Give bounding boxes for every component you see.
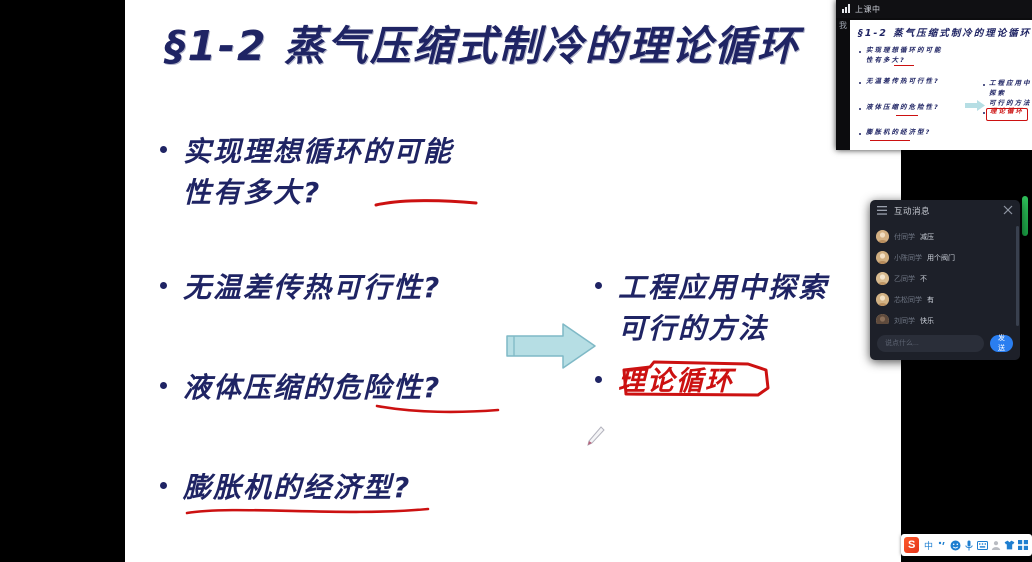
- chat-message-name: 付同学: [894, 232, 915, 242]
- chat-message-name: 芯松同学: [894, 295, 922, 305]
- self-video-label: 我: [836, 20, 850, 32]
- chinese-mode-icon[interactable]: 中: [922, 537, 934, 553]
- punctuation-icon[interactable]: [936, 537, 948, 553]
- chat-panel-title: 互动消息: [894, 205, 996, 217]
- class-status-label: 上课中: [855, 4, 881, 15]
- chat-message-item: 乙同学 不: [876, 268, 1014, 289]
- preview-bullet-3: 液体压缩的危险性?: [866, 103, 976, 113]
- chat-message-text: 有: [927, 295, 934, 305]
- preview-underline-3: [896, 115, 918, 116]
- bullet-dot-icon: [160, 382, 167, 389]
- bullet-dot-icon: [983, 112, 985, 114]
- presentation-slide: §1-2 蒸气压缩式制冷的理论循环 实现理想循环的可能 性有多大? 无温差传热可…: [125, 0, 901, 562]
- red-box-annotation: [620, 358, 775, 398]
- bullet-item-1: 实现理想循环的可能 性有多大?: [160, 132, 560, 213]
- chat-message-text: 减压: [920, 232, 934, 242]
- chat-message-text: 用个阀门: [927, 253, 955, 263]
- preview-bullet-right-1: 工程应用中探索 可行的方法: [989, 79, 1032, 108]
- page-title: §1-2 蒸气压缩式制冷的理论循环: [165, 12, 800, 72]
- chat-message-text: 快乐: [920, 316, 934, 325]
- microphone-icon[interactable]: [963, 537, 975, 553]
- chat-panel-header: 互动消息: [870, 200, 1020, 222]
- bullet-dot-icon: [859, 82, 861, 84]
- ime-toolbar[interactable]: S 中: [901, 534, 1032, 556]
- signal-bars-icon: [842, 0, 851, 18]
- bullet-text-4: 膨胀机的经济型?: [183, 468, 411, 509]
- keyboard-icon[interactable]: [976, 537, 988, 553]
- skin-icon[interactable]: [1003, 537, 1015, 553]
- toolbox-icon[interactable]: [1017, 537, 1029, 553]
- chat-message-item: 刘同学 快乐: [876, 310, 1014, 324]
- user-icon[interactable]: [990, 537, 1002, 553]
- red-underline-annotation-4: [185, 504, 430, 518]
- sogou-logo-icon[interactable]: S: [904, 537, 919, 553]
- bullet-item-3: 液体压缩的危险性?: [160, 368, 560, 409]
- chat-message-name: 乙同学: [894, 274, 915, 284]
- close-icon[interactable]: [1003, 202, 1013, 220]
- bullet-item-4: 膨胀机的经济型?: [160, 468, 560, 509]
- bullet-text-right-1: 工程应用中探索 可行的方法: [618, 268, 828, 349]
- chat-input[interactable]: [877, 335, 984, 352]
- preview-bullet-1: 实现理想循环的可能 性有多大?: [866, 46, 976, 66]
- chat-input-bar: 发送: [870, 326, 1020, 360]
- volume-indicator: [1022, 196, 1028, 236]
- chat-message-text: 不: [920, 274, 927, 284]
- class-preview-header: 上课中: [836, 0, 1032, 18]
- preview-right-arrow-icon: [965, 98, 985, 109]
- hamburger-icon[interactable]: [877, 202, 887, 220]
- interactive-message-panel[interactable]: 互动消息 付同学 减压 小陈同学 用个阀门: [870, 200, 1020, 360]
- preview-red-box: [986, 108, 1028, 121]
- bullet-text-2: 无温差传热可行性?: [183, 268, 441, 309]
- chat-message-item: 芯松同学 有: [876, 289, 1014, 310]
- bullet-dot-icon: [859, 51, 861, 53]
- bullet-dot-icon: [859, 133, 861, 135]
- preview-underline-1: [894, 65, 914, 66]
- chat-message-list[interactable]: 付同学 减压 小陈同学 用个阀门 乙同学 不: [870, 224, 1020, 324]
- red-underline-annotation-1: [374, 196, 479, 210]
- bullet-dot-icon: [160, 146, 167, 153]
- avatar: [876, 272, 889, 285]
- emoji-icon[interactable]: [949, 537, 961, 553]
- screen-stage: §1-2 蒸气压缩式制冷的理论循环 实现理想循环的可能 性有多大? 无温差传热可…: [0, 0, 1032, 562]
- avatar: [876, 251, 889, 264]
- preview-title: §1-2 蒸气压缩式制冷的理论循环: [858, 25, 1031, 39]
- avatar: [876, 230, 889, 243]
- bullet-dot-icon: [160, 482, 167, 489]
- preview-bullet-2: 无温差传热可行性?: [866, 77, 976, 87]
- pen-cursor-icon: [583, 424, 607, 450]
- avatar: [876, 293, 889, 306]
- bullet-dot-icon: [160, 282, 167, 289]
- bullet-dot-icon: [595, 282, 602, 289]
- preview-bullet-4: 膨胀机的经济型?: [866, 128, 976, 138]
- right-arrow-icon: [503, 320, 598, 372]
- bullet-dot-icon: [859, 108, 861, 110]
- bullet-item-right-1: 工程应用中探索 可行的方法: [595, 268, 895, 349]
- chat-scrollbar[interactable]: [1016, 226, 1019, 326]
- chat-message-name: 小陈同学: [894, 253, 922, 263]
- chat-message-name: 刘同学: [894, 316, 915, 325]
- bullet-dot-icon: [983, 84, 985, 86]
- class-preview-window[interactable]: 上课中 我 §1-2 蒸气压缩式制冷的理论循环 实现理想循环的可能 性有多大? …: [836, 0, 1032, 150]
- bullet-item-2: 无温差传热可行性?: [160, 268, 560, 309]
- avatar: [876, 314, 889, 324]
- send-button[interactable]: 发送: [990, 335, 1013, 352]
- red-underline-annotation-3: [375, 402, 500, 416]
- chat-message-item: 付同学 减压: [876, 226, 1014, 247]
- preview-underline-4: [870, 140, 910, 141]
- bullet-dot-icon: [595, 376, 602, 383]
- chat-message-item: 小陈同学 用个阀门: [876, 247, 1014, 268]
- class-preview-slide: §1-2 蒸气压缩式制冷的理论循环 实现理想循环的可能 性有多大? 无温差传热可…: [850, 20, 1032, 150]
